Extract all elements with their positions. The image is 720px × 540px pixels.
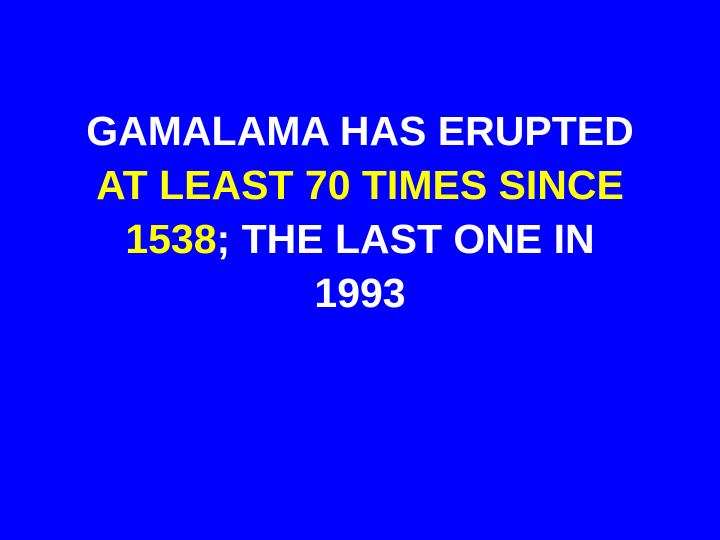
slide-text-block: GAMALAMA HAS ERUPTED AT LEAST 70 TIMES S… xyxy=(0,104,720,320)
line-3-year-highlight: 1538 xyxy=(125,216,216,262)
slide-text-line-1: GAMALAMA HAS ERUPTED xyxy=(0,104,720,158)
line-2-text: AT LEAST 70 TIMES SINCE xyxy=(96,162,624,208)
line-1-text: GAMALAMA HAS ERUPTED xyxy=(86,108,633,154)
line-3-remainder-text: ; THE LAST ONE IN xyxy=(217,216,595,262)
slide-canvas: GAMALAMA HAS ERUPTED AT LEAST 70 TIMES S… xyxy=(0,0,720,540)
slide-text-line-4: 1993 xyxy=(0,266,720,320)
slide-text-line-3: 1538; THE LAST ONE IN xyxy=(0,212,720,266)
line-4-year-text: 1993 xyxy=(314,270,405,316)
slide-text-line-2: AT LEAST 70 TIMES SINCE xyxy=(0,158,720,212)
